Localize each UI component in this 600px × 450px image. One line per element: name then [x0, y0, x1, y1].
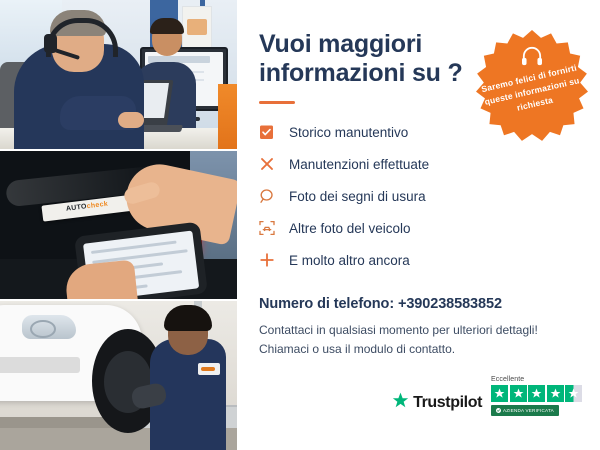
- trustpilot-rating: Eccellente AZIENDA VERIFICATA: [491, 376, 582, 416]
- agent-hand: [118, 112, 144, 128]
- photo-strip: AUTOcheck: [0, 0, 237, 450]
- verified-label: AZIENDA VERIFICATA: [503, 408, 554, 413]
- call-centre-agents-photo: [0, 0, 237, 149]
- star-filled: [528, 385, 545, 402]
- plus-icon: [259, 252, 283, 268]
- feature-label: Altre foto del veicolo: [289, 221, 411, 236]
- contact-subtext-line-1: Contattaci in qualsiasi momento per ulte…: [259, 323, 538, 337]
- car-scan-icon: [259, 220, 283, 236]
- feature-label: Foto dei segni di usura: [289, 189, 426, 204]
- uniform-logo-patch: [198, 363, 220, 375]
- feature-label: E molto altro ancora: [289, 253, 410, 268]
- contact-subtext-line-2: Chiamaci o usa il modulo di contatto.: [259, 342, 455, 356]
- check-circle-icon: [496, 408, 501, 414]
- rating-label: Eccellente: [491, 376, 524, 383]
- wrench-tools-icon: [259, 156, 283, 172]
- car-front-grille: [0, 357, 80, 373]
- star-filled: [510, 385, 527, 402]
- trustpilot-logo: Trustpilot: [392, 392, 482, 416]
- feature-label: Storico manutentivo: [289, 125, 408, 140]
- trustpilot-widget[interactable]: Trustpilot Eccellente AZIENDA VERIFICATA: [392, 376, 582, 416]
- list-item: E molto altro ancora: [259, 246, 519, 274]
- page-title: Vuoi maggiori informazioni su ?: [259, 30, 464, 88]
- list-item: Manutenzioni effettuate: [259, 150, 519, 178]
- second-agent-hair: [150, 18, 184, 34]
- promo-banner: AUTOcheck: [0, 0, 600, 450]
- star-rating: [491, 385, 582, 402]
- mechanic-hair: [164, 305, 212, 331]
- star-filled: [547, 385, 564, 402]
- contact-subtext: Contattaci in qualsiasi momento per ulte…: [259, 321, 578, 358]
- gauge-brand-label: AUTOcheck: [66, 200, 109, 212]
- list-item: Foto dei segni di usura: [259, 182, 519, 210]
- phone-number-label[interactable]: Numero di telefono: +390238583852: [259, 296, 578, 312]
- heading-line-2: informazioni su ?: [259, 59, 463, 87]
- status-badge: AZIENDA VERIFICATA: [491, 405, 559, 416]
- orange-shelf: [218, 84, 237, 149]
- checkbox-checked-icon: [259, 124, 283, 140]
- car-headlight: [22, 315, 76, 339]
- callout-badge: Saremo felici di fornirti queste informa…: [476, 30, 588, 142]
- magnifier-icon: [259, 188, 283, 204]
- title-underline-rule: [259, 101, 295, 104]
- poster-image: [187, 19, 207, 35]
- star-filled: [491, 385, 508, 402]
- promo-content: Vuoi maggiori informazioni su ? Saremo f…: [237, 0, 600, 450]
- list-item: Altre foto del veicolo: [259, 214, 519, 242]
- feature-label: Manutenzioni effettuate: [289, 157, 429, 172]
- trustpilot-star-icon: [392, 392, 409, 414]
- gauge-brand-accent: check: [86, 200, 108, 210]
- headset-icon: [521, 46, 543, 71]
- wall-poster: [182, 6, 212, 48]
- car-inspection-tablet-photo: AUTOcheck: [0, 151, 237, 300]
- workshop-wheel-service-photo: [0, 301, 237, 450]
- star-half: [565, 385, 582, 402]
- trustpilot-wordmark: Trustpilot: [413, 394, 482, 412]
- patch-accent: [201, 367, 215, 371]
- heading-line-1: Vuoi maggiori: [259, 30, 422, 58]
